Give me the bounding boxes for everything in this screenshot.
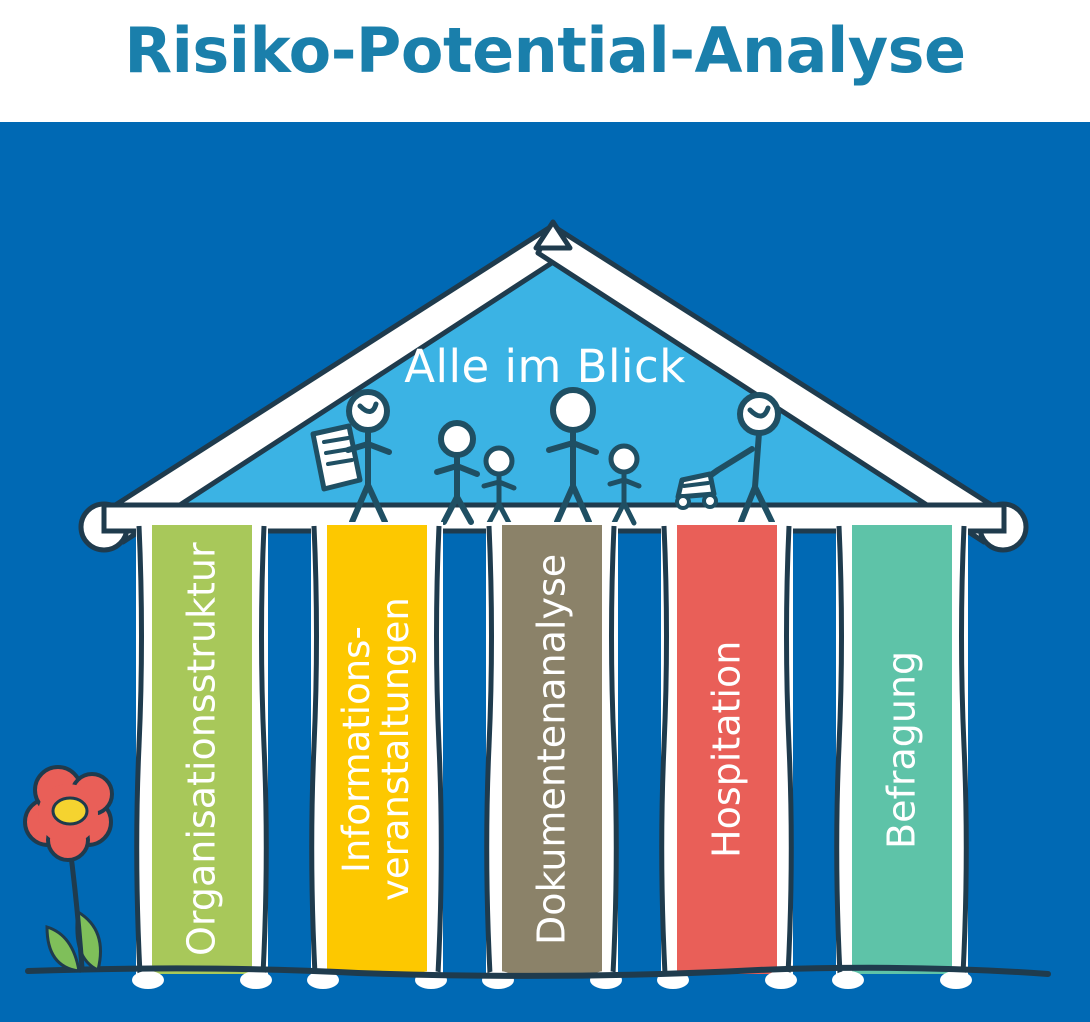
title-band: Risiko-Potential-Analyse: [0, 0, 1090, 122]
pillar-hospitation[interactable]: [657, 522, 797, 989]
page-title: Risiko-Potential-Analyse: [0, 14, 1090, 87]
pillar-group: [132, 522, 972, 989]
roof-fill: [150, 244, 955, 518]
poster-canvas: Risiko-Potential-Analyse: [0, 0, 1090, 1022]
flower: [25, 767, 112, 971]
pillar-informationsveranstaltungen[interactable]: [307, 522, 447, 989]
clipboard-icon: [313, 426, 360, 489]
poster-body: Alle im Blick Organisationsstruktur Info…: [0, 122, 1090, 1022]
pillar-dokumentenanalyse[interactable]: [482, 522, 622, 989]
flower-leaf-left: [47, 927, 79, 971]
pillar-befragung[interactable]: [832, 522, 972, 989]
roof-group: [81, 222, 1026, 550]
house-illustration: [0, 122, 1090, 1022]
flower-center: [53, 798, 87, 824]
pillar-organisationsstruktur[interactable]: [132, 522, 272, 989]
